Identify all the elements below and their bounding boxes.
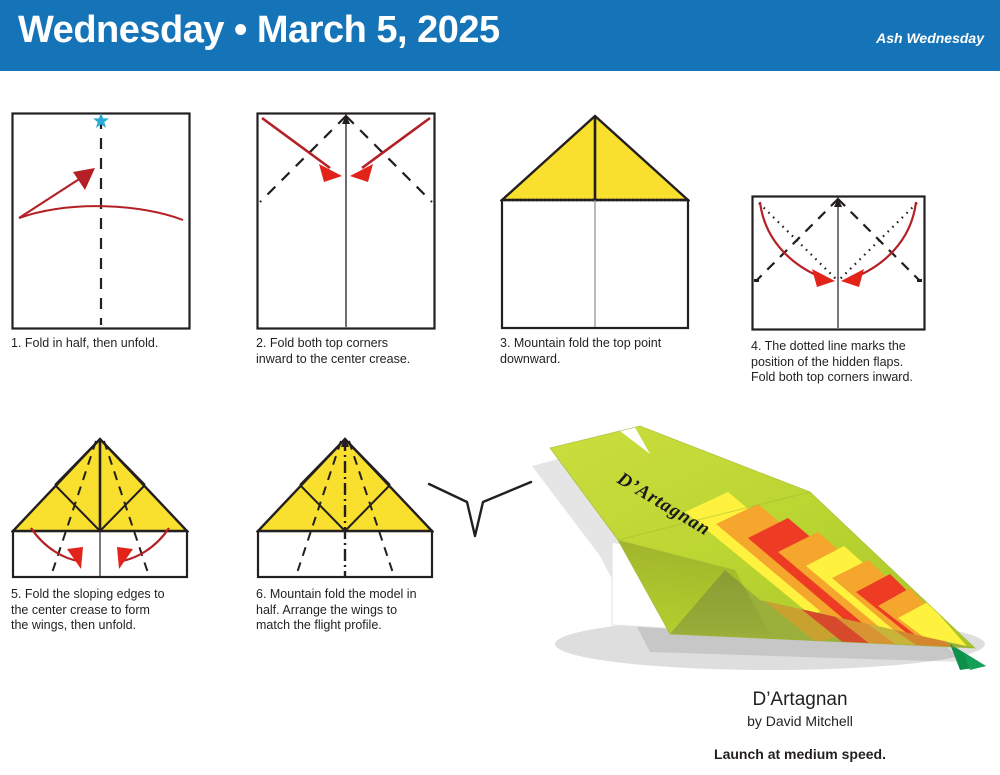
model-author: by David Mitchell [600, 712, 1000, 731]
header-divider [0, 71, 1000, 74]
model-caption-block: D’Artagnan by David Mitchell Launch at m… [600, 688, 1000, 764]
page-title: Wednesday • March 5, 2025 [18, 9, 500, 52]
step-3-caption: 3. Mountain fold the top point downward. [500, 336, 725, 367]
model-launch-note: Launch at medium speed. [600, 745, 1000, 764]
step-6-diagram [256, 435, 434, 579]
step-5-diagram [11, 435, 189, 579]
date-header-bar: Wednesday • March 5, 2025 Ash Wednesday [0, 0, 1000, 71]
step-2-diagram [256, 112, 436, 330]
finished-model-photo: D’Artagnan [520, 420, 990, 675]
step-4-caption: 4. The dotted line marks the position of… [751, 339, 1000, 386]
step-6-caption: 6. Mountain fold the model in half. Arra… [256, 587, 491, 634]
step-2-caption: 2. Fold both top corners inward to the c… [256, 336, 481, 367]
step-1-diagram [11, 112, 191, 330]
flight-profile-icon [425, 472, 535, 542]
holiday-label: Ash Wednesday [876, 30, 984, 46]
model-name: D’Artagnan [600, 688, 1000, 712]
step-5-caption: 5. Fold the sloping edges to the center … [11, 587, 236, 634]
step-1-caption: 1. Fold in half, then unfold. [11, 336, 236, 352]
step-3-diagram [500, 112, 690, 330]
step-4-diagram [751, 195, 926, 331]
